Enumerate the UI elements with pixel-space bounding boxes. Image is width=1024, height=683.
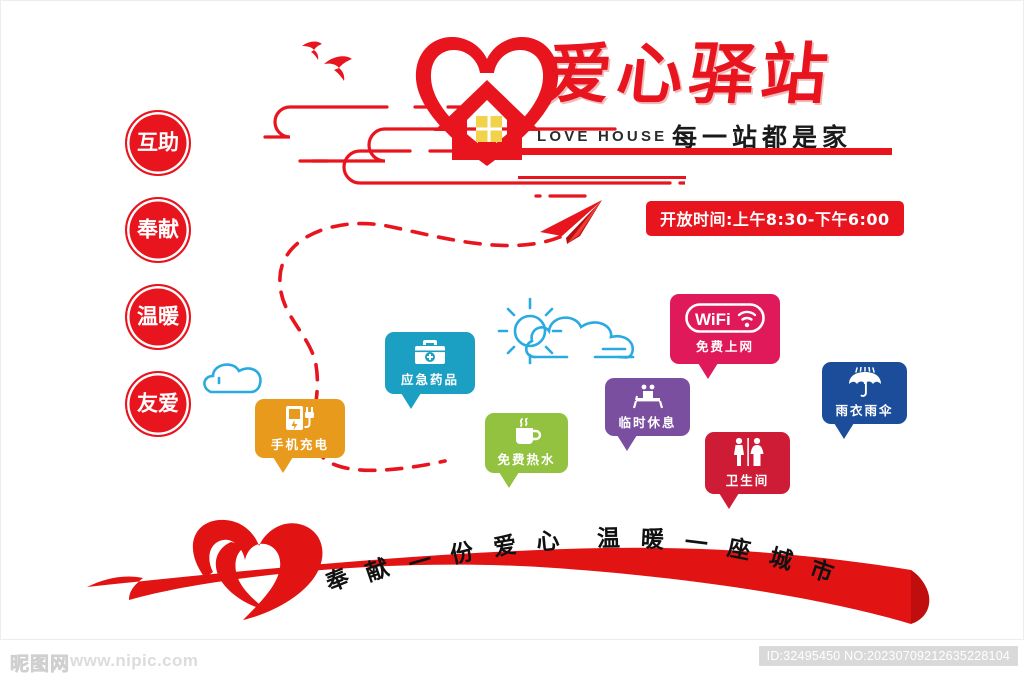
asset-id-badge: ID:32495450 NO:20230709212635228104 — [759, 646, 1018, 666]
bubble-tail — [273, 457, 293, 473]
service-label: 免费热水 — [497, 449, 555, 468]
bubble-tail — [499, 472, 519, 488]
phone-charging-icon — [283, 405, 317, 431]
service-label: 临时休息 — [618, 412, 676, 431]
value-badge-warmth[interactable]: 温暖 — [125, 284, 191, 350]
rest-bench-icon — [631, 384, 665, 409]
ribbon-char: 一 — [683, 523, 710, 560]
service-label: 雨衣雨伞 — [835, 400, 893, 419]
value-badge-label: 奉献 — [137, 219, 179, 240]
service-bubble-rest[interactable]: 临时休息 — [605, 378, 690, 436]
service-bubble-phone-charging[interactable]: 手机充电 — [255, 399, 345, 458]
poster-canvas: 爱心驿站 LOVE HOUSE 每一站都是家 开放时间:上午8:30-下午6:0… — [0, 0, 1024, 683]
small-cloud-icon — [203, 362, 265, 398]
ribbon-char: 温 — [597, 519, 621, 553]
title-underline — [500, 148, 892, 155]
title-underline-short — [518, 176, 686, 179]
wifi-icon: WiFi — [685, 303, 765, 333]
service-label: 卫生间 — [726, 470, 770, 489]
house-window-icon — [476, 116, 502, 142]
bubble-tail — [834, 423, 854, 439]
bubble-tail — [617, 435, 637, 451]
service-bubble-restroom[interactable]: 卫生间 — [705, 432, 790, 494]
service-label: 应急药品 — [401, 369, 459, 388]
service-bubble-rain-gear[interactable]: 雨衣雨伞 — [822, 362, 907, 424]
value-badge-label: 温暖 — [137, 306, 179, 327]
flying-birds-icon — [300, 38, 370, 88]
service-bubble-first-aid[interactable]: 应急药品 — [385, 332, 475, 394]
svg-text:WiFi: WiFi — [695, 310, 731, 329]
bubble-tail — [401, 393, 421, 409]
value-badge-friendship[interactable]: 友爱 — [125, 371, 191, 437]
nipic-logo: 昵图网 — [10, 649, 70, 676]
value-badge-dedication[interactable]: 奉献 — [125, 197, 191, 263]
value-badge-mutual-help[interactable]: 互助 — [125, 110, 191, 176]
heart-house-icon — [412, 28, 562, 168]
value-badge-label: 互助 — [137, 132, 179, 153]
service-bubble-hot-water[interactable]: 免费热水 — [485, 413, 568, 473]
watermark-footer: 昵图网 www.nipic.com ID:32495450 NO:2023070… — [0, 640, 1024, 683]
bubble-tail — [698, 363, 718, 379]
service-label: 手机充电 — [271, 434, 329, 453]
bubble-tail — [719, 493, 739, 509]
first-aid-kit-icon — [413, 338, 447, 366]
umbrella-rain-icon — [845, 367, 885, 397]
ribbon-char: 心 — [534, 521, 560, 557]
service-label: 免费上网 — [696, 336, 754, 355]
opening-hours-banner: 开放时间:上午8:30-下午6:00 — [646, 201, 904, 236]
page-title: 爱心驿站 — [542, 42, 837, 108]
service-bubble-wifi[interactable]: WiFi 免费上网 — [670, 294, 780, 364]
sun-cloud-icon — [495, 293, 655, 371]
hot-water-cup-icon — [511, 418, 543, 446]
restroom-icon — [728, 437, 768, 467]
nipic-url: www.nipic.com — [70, 651, 198, 671]
ribbon-char: 暖 — [640, 519, 665, 554]
title-subtitle-en: LOVE HOUSE — [537, 128, 667, 145]
paper-plane-icon — [536, 198, 606, 246]
value-badge-label: 友爱 — [137, 393, 179, 414]
